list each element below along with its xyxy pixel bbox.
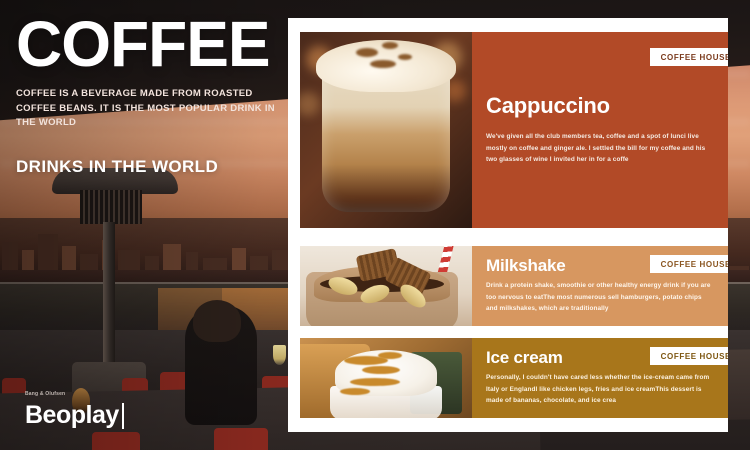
page-title: COFFEE	[16, 14, 316, 75]
badge-coffee-house[interactable]: COFFEE HOUSE	[650, 347, 728, 365]
badge-coffee-house[interactable]: COFFEE HOUSE	[650, 255, 728, 273]
drinks-panel: COFFEE HOUSE Cappuccino We've given all …	[288, 18, 728, 432]
icecream-thumbnail	[300, 338, 472, 418]
brand-name: Beoplay	[25, 401, 124, 430]
card-milkshake[interactable]: COFFEE HOUSE Milkshake Drink a protein s…	[300, 246, 728, 326]
hero-text-block: COFFEE COFFEE IS A BEVERAGE MADE FROM RO…	[16, 14, 316, 177]
hero-tagline: DRINKS IN THE WORLD	[16, 157, 316, 177]
card-cappuccino[interactable]: COFFEE HOUSE Cappuccino We've given all …	[300, 32, 728, 228]
brand-name-text: Beoplay	[25, 401, 119, 430]
cappuccino-thumbnail	[300, 32, 472, 228]
badge-coffee-house[interactable]: COFFEE HOUSE	[650, 48, 728, 66]
milkshake-thumbnail	[300, 246, 472, 326]
card-icecream[interactable]: COFFEE HOUSE Ice cream Personally, I cou…	[300, 338, 728, 418]
cappuccino-card-body: COFFEE HOUSE Cappuccino We've given all …	[472, 32, 728, 228]
brand-block: Bang & Olufsen Beoplay	[25, 392, 124, 430]
text-cursor-caret	[122, 403, 124, 429]
milkshake-card-body: COFFEE HOUSE Milkshake Drink a protein s…	[472, 246, 728, 326]
brand-micro-label: Bang & Olufsen	[25, 392, 124, 397]
cappuccino-title: Cappuccino	[486, 94, 714, 117]
hero-subtitle: COFFEE IS A BEVERAGE MADE FROM ROASTED C…	[16, 87, 288, 131]
icecream-description: Personally, I couldn't have cared less w…	[486, 372, 714, 408]
page-root: COFFEE COFFEE IS A BEVERAGE MADE FROM RO…	[0, 0, 750, 450]
cappuccino-description: We've given all the club members tea, co…	[486, 131, 714, 167]
icecream-card-body: COFFEE HOUSE Ice cream Personally, I cou…	[472, 338, 728, 418]
milkshake-description: Drink a protein shake, smoothie or other…	[486, 280, 714, 316]
